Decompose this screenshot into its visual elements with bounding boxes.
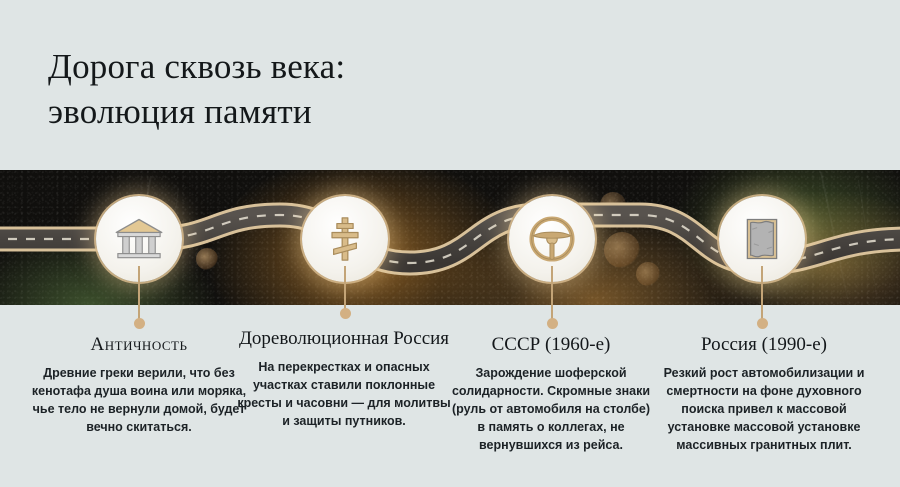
granite-slab-icon xyxy=(736,213,788,265)
connector-dot xyxy=(134,318,145,329)
step-body: Зарождение шоферской солидарности. Скром… xyxy=(451,365,651,454)
page-title: Дорога сквозь века: эволюция памяти xyxy=(48,44,668,134)
step-body: На перекрестках и опасных участках стави… xyxy=(233,359,455,431)
timeline-band xyxy=(0,170,900,305)
page-title-line-1: Дорога сквозь века: xyxy=(48,44,668,89)
connector-dot xyxy=(340,308,351,319)
connector-dot xyxy=(547,318,558,329)
step-body: Резкий рост автомобилизации и смертности… xyxy=(655,365,873,454)
step-title: СССР (1960-е) xyxy=(451,334,651,356)
step-russia-1990s: Россия (1990-е) Резкий рост автомобилиза… xyxy=(655,334,873,454)
connector-stem xyxy=(761,266,763,320)
infographic-root: Дорога сквозь века: эволюция памяти xyxy=(0,0,900,487)
greek-temple-icon xyxy=(113,213,165,265)
step-antiquity: Античность Древние греки верили, что без… xyxy=(24,334,254,437)
connector-stem xyxy=(138,266,140,320)
connector-dot xyxy=(757,318,768,329)
page-title-line-2: эволюция памяти xyxy=(48,89,668,134)
orthodox-cross-icon xyxy=(319,213,371,265)
connector-stem xyxy=(344,266,346,310)
step-prerevolutionary-russia: Дореволюционная Россия На перекрестках и… xyxy=(233,328,455,431)
step-ussr-1960s: СССР (1960-е) Зарождение шоферской солид… xyxy=(451,334,651,454)
step-title: Россия (1990-е) xyxy=(655,334,873,356)
steering-wheel-icon xyxy=(526,213,578,265)
connector-stem xyxy=(551,266,553,320)
step-body: Древние греки верили, что без кенотафа д… xyxy=(24,365,254,437)
step-title: Дореволюционная Россия xyxy=(233,328,455,350)
step-title: Античность xyxy=(24,334,254,356)
